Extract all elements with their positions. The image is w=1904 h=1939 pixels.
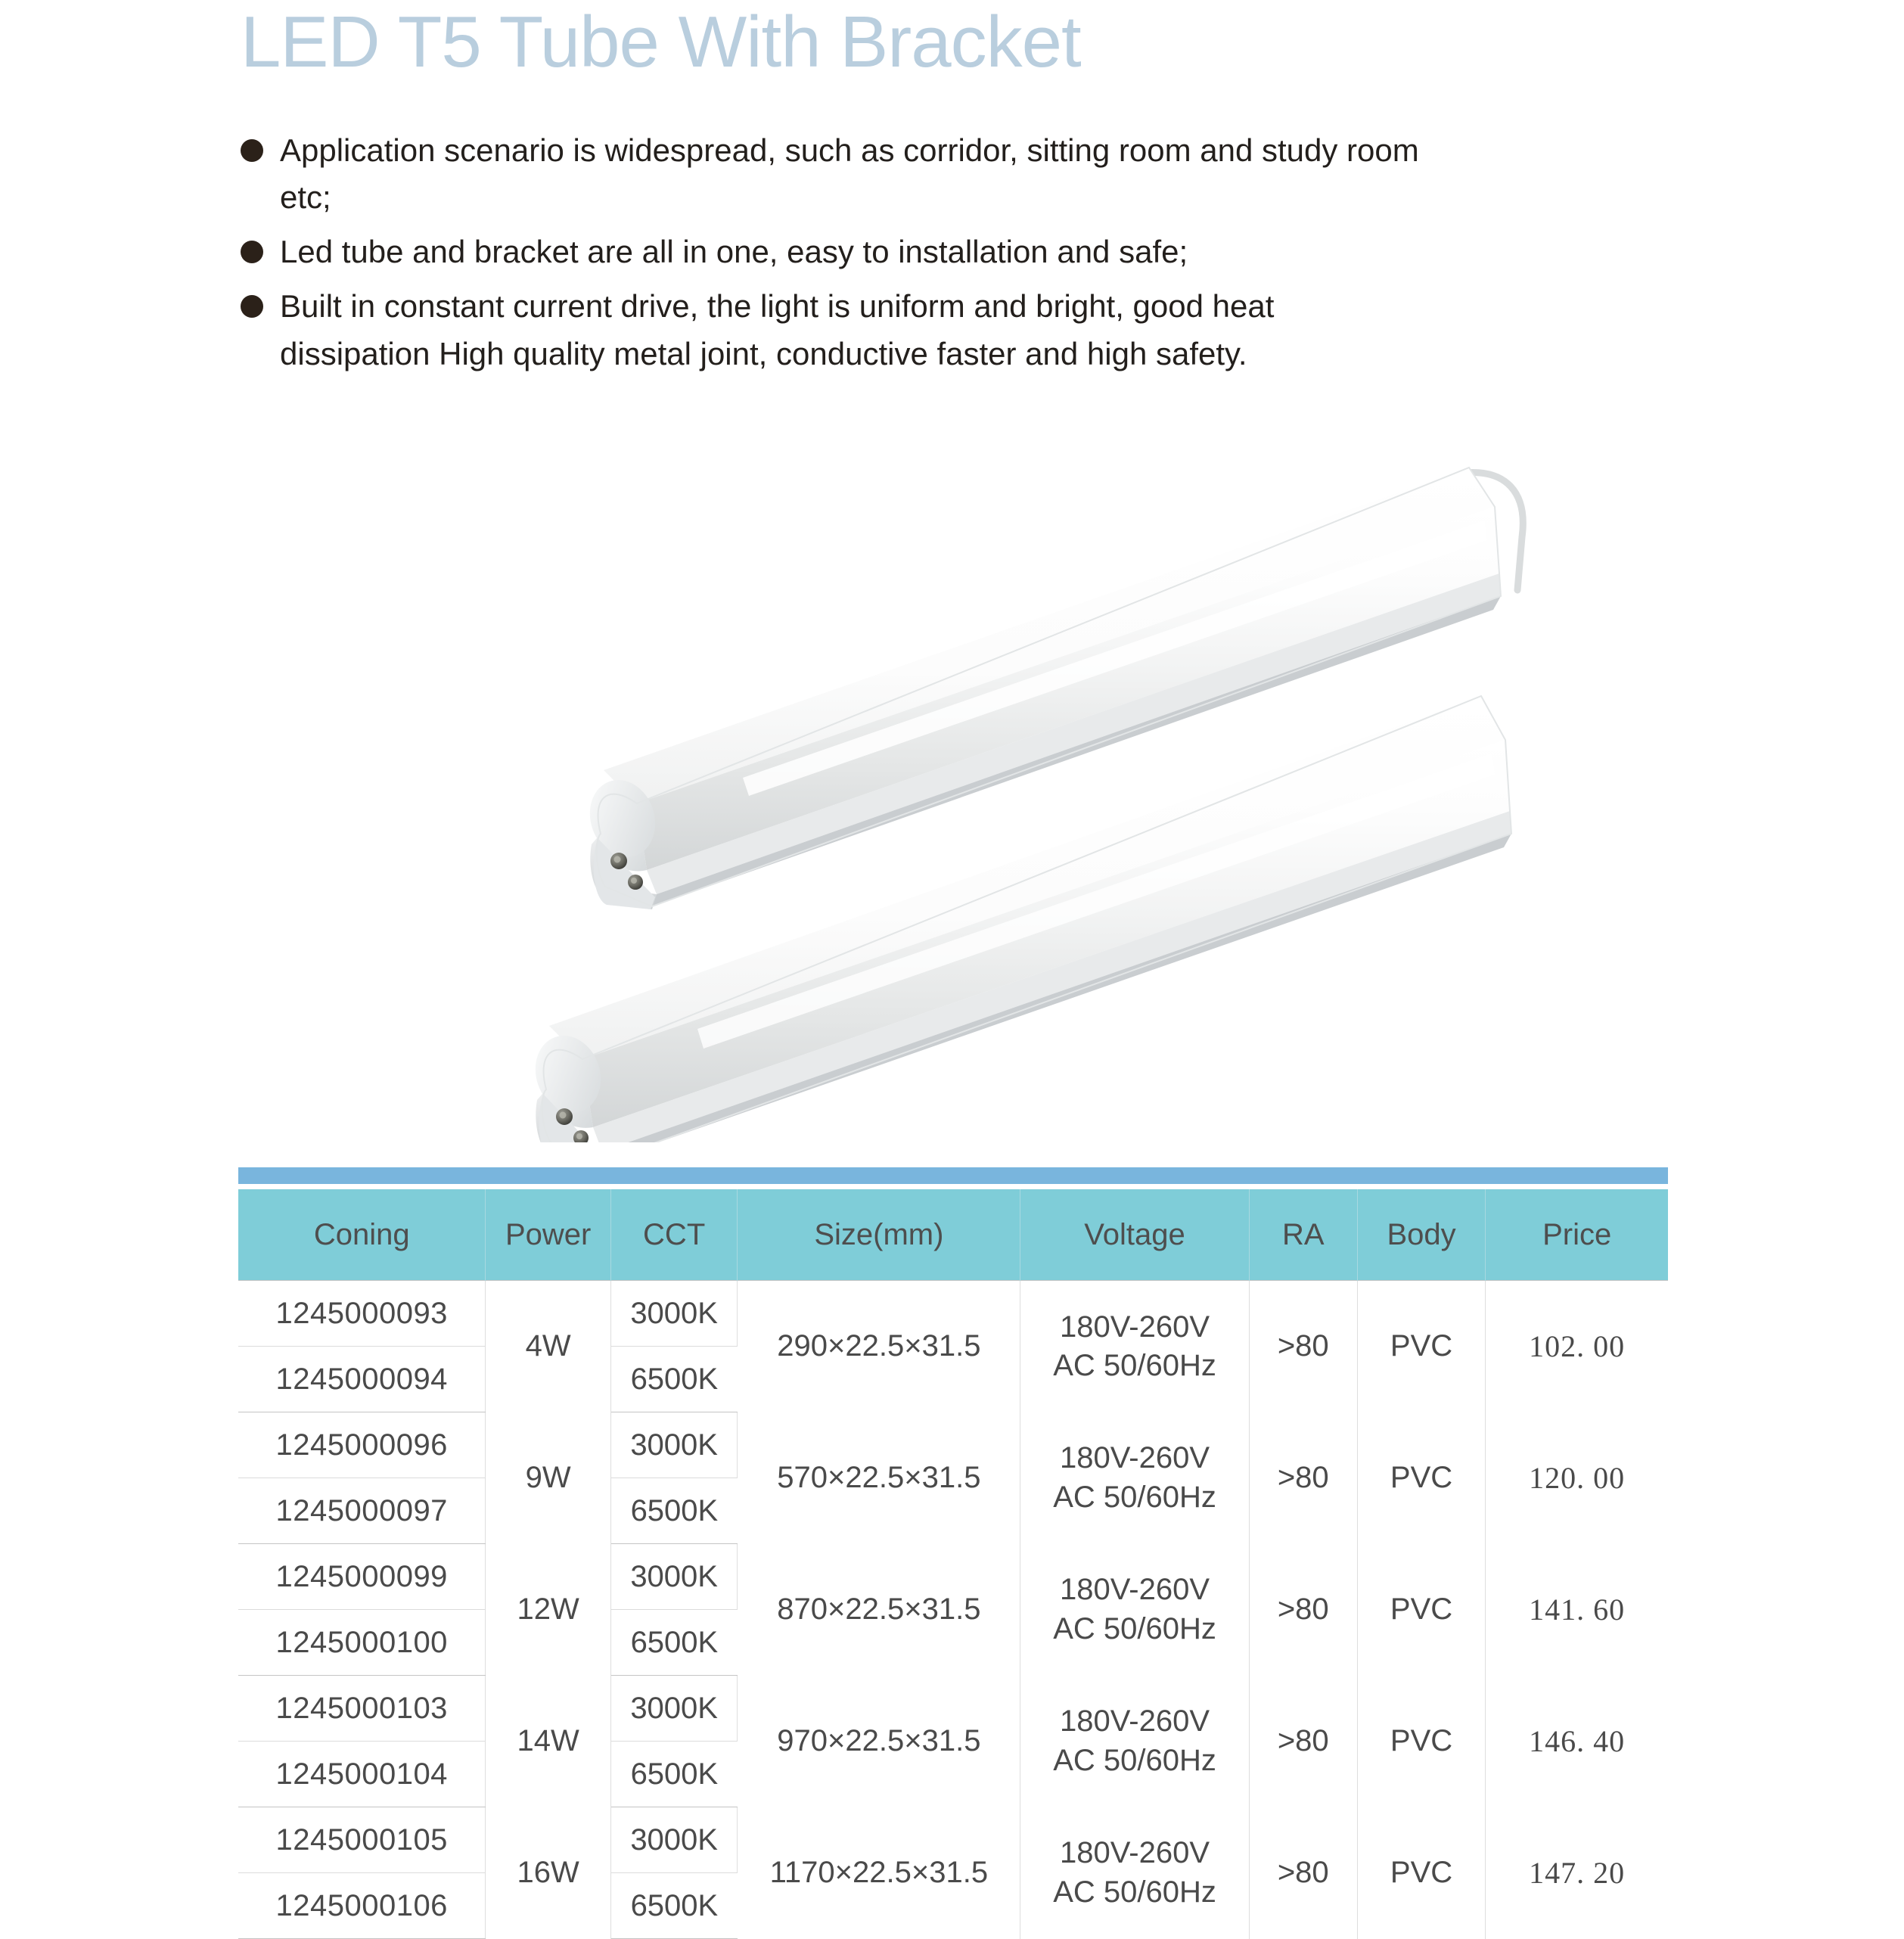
cell-size: 870×22.5×31.5 [738, 1544, 1020, 1676]
cell-body: PVC [1357, 1281, 1486, 1412]
column-header-price: Price [1486, 1189, 1668, 1281]
cell-cct: 3000K [610, 1412, 738, 1478]
cell-power: 9W [486, 1412, 610, 1544]
cell-ra: >80 [1249, 1544, 1357, 1676]
cell-power: 14W [486, 1676, 610, 1807]
voltage-line-2: AC 50/60Hz [1053, 1612, 1216, 1645]
cell-ra: >80 [1249, 1807, 1357, 1939]
cell-power: 12W [486, 1544, 610, 1676]
cell-price: 141. 60 [1486, 1544, 1668, 1676]
table-row: 1245000103 14W 3000K 970×22.5×31.5 180V-… [238, 1676, 1668, 1742]
cell-coning: 1245000104 [238, 1742, 486, 1807]
bullet-dot-icon [241, 295, 263, 318]
table-row: 1245000099 12W 3000K 870×22.5×31.5 180V-… [238, 1544, 1668, 1610]
cell-size: 970×22.5×31.5 [738, 1676, 1020, 1807]
feature-text: Led tube and bracket are all in one, eas… [280, 228, 1188, 275]
cell-coning: 1245000099 [238, 1544, 486, 1610]
column-header-ra: RA [1249, 1189, 1357, 1281]
column-header-voltage: Voltage [1020, 1189, 1249, 1281]
column-header-size: Size(mm) [738, 1189, 1020, 1281]
cell-cct: 6500K [610, 1873, 738, 1939]
cell-price: 147. 20 [1486, 1807, 1668, 1939]
voltage-line-1: 180V-260V [1060, 1836, 1210, 1869]
cell-coning: 1245000100 [238, 1610, 486, 1676]
cell-cct: 3000K [610, 1676, 738, 1742]
cell-price: 120. 00 [1486, 1412, 1668, 1544]
cell-body: PVC [1357, 1544, 1486, 1676]
cell-voltage: 180V-260V AC 50/60Hz [1020, 1544, 1249, 1676]
spec-table-container: Coning Power CCT Size(mm) Voltage RA Bod… [238, 1167, 1668, 1939]
column-header-coning: Coning [238, 1189, 486, 1281]
product-photo [522, 461, 1657, 1142]
feature-text: Application scenario is widespread, such… [280, 127, 1421, 221]
column-header-cct: CCT [610, 1189, 738, 1281]
voltage-line-2: AC 50/60Hz [1053, 1744, 1216, 1777]
cell-coning: 1245000103 [238, 1676, 486, 1742]
cell-cct: 6500K [610, 1742, 738, 1807]
table-header-row: Coning Power CCT Size(mm) Voltage RA Bod… [238, 1189, 1668, 1281]
cell-body: PVC [1357, 1807, 1486, 1939]
cell-cct: 3000K [610, 1281, 738, 1347]
bullet-dot-icon [241, 139, 263, 162]
cell-ra: >80 [1249, 1676, 1357, 1807]
column-header-power: Power [486, 1189, 610, 1281]
voltage-line-2: AC 50/60Hz [1053, 1481, 1216, 1514]
column-header-body: Body [1357, 1189, 1486, 1281]
cell-coning: 1245000094 [238, 1347, 486, 1412]
cell-cct: 6500K [610, 1478, 738, 1544]
voltage-line-1: 180V-260V [1060, 1573, 1210, 1606]
voltage-line-1: 180V-260V [1060, 1310, 1210, 1344]
cell-price: 102. 00 [1486, 1281, 1668, 1412]
voltage-line-1: 180V-260V [1060, 1441, 1210, 1474]
table-row: 1245000096 9W 3000K 570×22.5×31.5 180V-2… [238, 1412, 1668, 1478]
cell-ra: >80 [1249, 1412, 1357, 1544]
cell-voltage: 180V-260V AC 50/60Hz [1020, 1412, 1249, 1544]
cell-cct: 3000K [610, 1544, 738, 1610]
cell-body: PVC [1357, 1412, 1486, 1544]
list-item: Application scenario is widespread, such… [241, 127, 1421, 221]
spec-table: Coning Power CCT Size(mm) Voltage RA Bod… [238, 1189, 1668, 1939]
table-row: 1245000105 16W 3000K 1170×22.5×31.5 180V… [238, 1807, 1668, 1873]
voltage-line-2: AC 50/60Hz [1053, 1349, 1216, 1382]
cell-price: 146. 40 [1486, 1676, 1668, 1807]
cell-voltage: 180V-260V AC 50/60Hz [1020, 1807, 1249, 1939]
feature-text: Built in constant current drive, the lig… [280, 283, 1421, 377]
cell-size: 570×22.5×31.5 [738, 1412, 1020, 1544]
cell-coning: 1245000106 [238, 1873, 486, 1939]
cell-voltage: 180V-260V AC 50/60Hz [1020, 1281, 1249, 1412]
cell-coning: 1245000093 [238, 1281, 486, 1347]
feature-list: Application scenario is widespread, such… [241, 127, 1421, 385]
cell-size: 290×22.5×31.5 [738, 1281, 1020, 1412]
cell-coning: 1245000097 [238, 1478, 486, 1544]
cell-cct: 3000K [610, 1807, 738, 1873]
list-item: Led tube and bracket are all in one, eas… [241, 228, 1421, 275]
cell-coning: 1245000096 [238, 1412, 486, 1478]
cell-cct: 6500K [610, 1610, 738, 1676]
voltage-line-1: 180V-260V [1060, 1704, 1210, 1738]
bullet-dot-icon [241, 241, 263, 263]
cell-cct: 6500K [610, 1347, 738, 1412]
table-row: 1245000093 4W 3000K 290×22.5×31.5 180V-2… [238, 1281, 1668, 1347]
cell-voltage: 180V-260V AC 50/60Hz [1020, 1676, 1249, 1807]
cell-body: PVC [1357, 1676, 1486, 1807]
table-accent-bar [238, 1167, 1668, 1184]
cell-ra: >80 [1249, 1281, 1357, 1412]
page-title: LED T5 Tube With Bracket [241, 6, 1081, 79]
list-item: Built in constant current drive, the lig… [241, 283, 1421, 377]
cell-size: 1170×22.5×31.5 [738, 1807, 1020, 1939]
cell-coning: 1245000105 [238, 1807, 486, 1873]
voltage-line-2: AC 50/60Hz [1053, 1875, 1216, 1909]
cell-power: 16W [486, 1807, 610, 1939]
cell-power: 4W [486, 1281, 610, 1412]
